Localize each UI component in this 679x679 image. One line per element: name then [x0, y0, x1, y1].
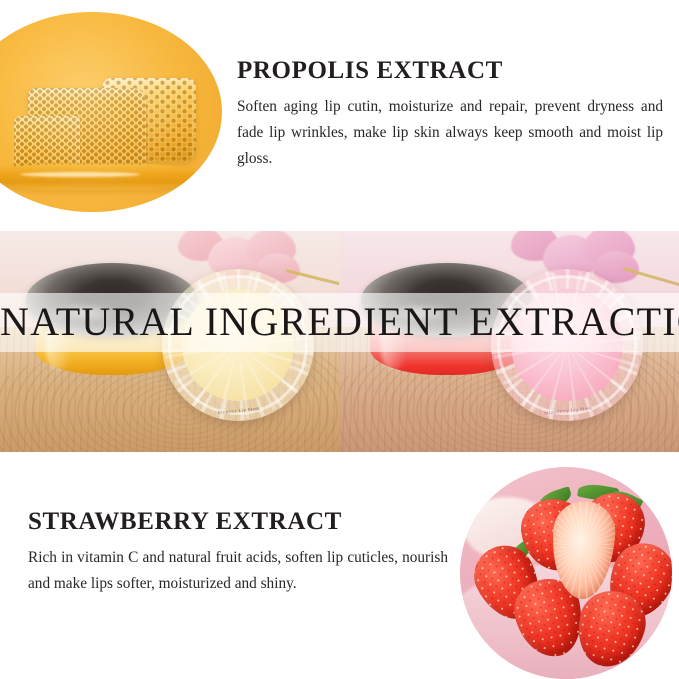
propolis-text-block: PROPOLIS EXTRACT Soften aging lip cutin,… [237, 57, 663, 172]
honeycomb-cells [28, 88, 146, 176]
strawberry-title: STRAWBERRY EXTRACT [28, 508, 448, 536]
banner-headline: NATURAL INGREDIENT EXTRACTION [0, 286, 679, 358]
propolis-title: PROPOLIS EXTRACT [237, 57, 663, 85]
propolis-section: PROPOLIS EXTRACT Soften aging lip cutin,… [0, 0, 679, 231]
honey-pool [0, 164, 196, 190]
strawberry-text-block: STRAWBERRY EXTRACT Rich in vitamin C and… [28, 508, 448, 597]
honeycomb-slab-front [28, 88, 146, 176]
honey-pool-highlight [20, 172, 140, 177]
honeycomb-slab-side [14, 116, 80, 182]
strawberry-section: STRAWBERRY EXTRACT Rich in vitamin C and… [0, 452, 679, 679]
strawberry-illustration [460, 467, 672, 679]
strawberry-description: Rich in vitamin C and natural fruit acid… [28, 545, 448, 597]
banner-section: Propolis Lip Mask Strawberry Lip Mask NA… [0, 231, 679, 452]
honeycomb-illustration [0, 12, 222, 212]
honeycomb-slab-back [102, 78, 196, 162]
propolis-description: Soften aging lip cutin, moisturize and r… [237, 94, 663, 172]
honeycomb-cells [14, 116, 80, 182]
honeycomb-cells [102, 78, 196, 162]
honeycomb-photo [0, 12, 222, 212]
strawberry-photo [460, 467, 672, 679]
